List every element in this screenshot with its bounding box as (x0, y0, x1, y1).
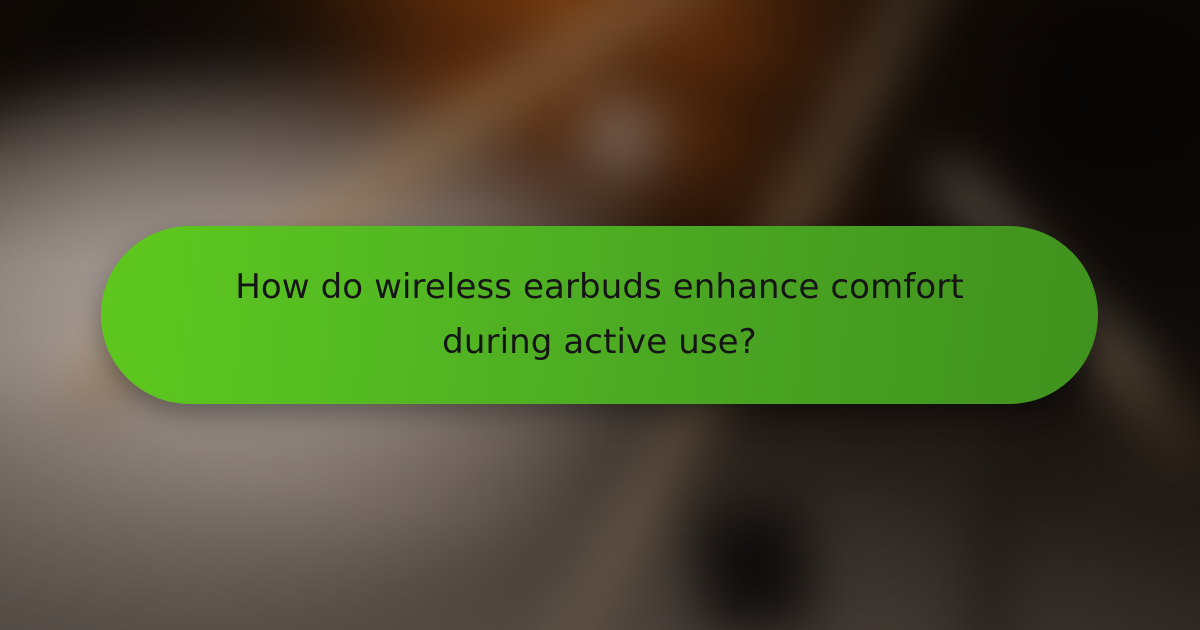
question-pill: How do wireless earbuds enhance comfort … (101, 226, 1098, 404)
question-card: How do wireless earbuds enhance comfort … (0, 0, 1200, 630)
question-text: How do wireless earbuds enhance comfort … (235, 260, 964, 370)
dot-grid-bottom-right (940, 370, 1200, 630)
dot-grid-top-left (0, 0, 260, 260)
